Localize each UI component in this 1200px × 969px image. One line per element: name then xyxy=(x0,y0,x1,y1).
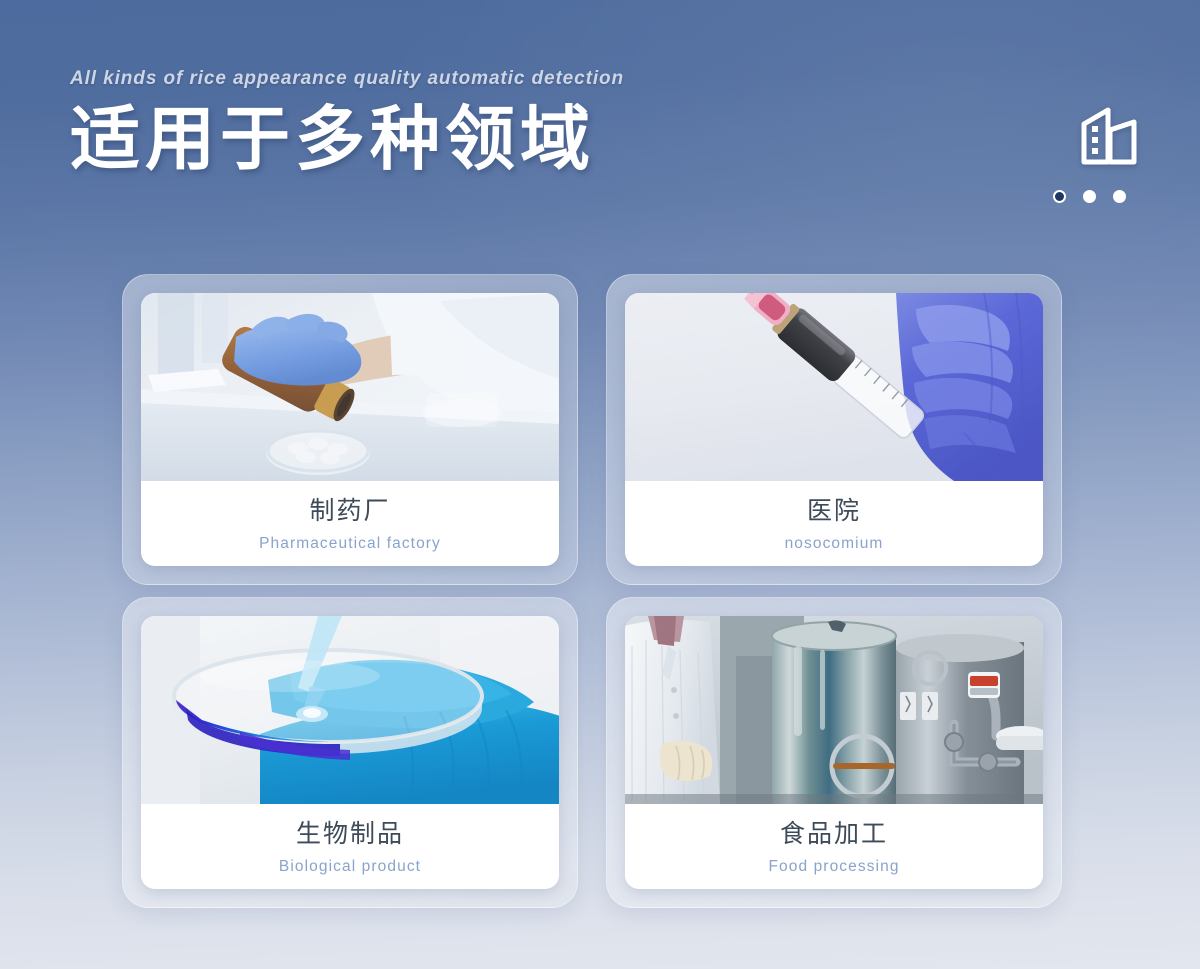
carousel-dot-3[interactable] xyxy=(1113,190,1126,203)
card-title: 食品加工 xyxy=(625,818,1043,849)
card-frame-food-processing[interactable]: 食品加工 Food processing xyxy=(606,597,1062,908)
card-pharmaceutical-factory[interactable]: 制药厂 Pharmaceutical factory xyxy=(141,293,559,566)
card-subtitle: Biological product xyxy=(141,858,559,876)
card-frame-pharmaceutical-factory[interactable]: 制药厂 Pharmaceutical factory xyxy=(122,274,578,585)
card-subtitle: nosocomium xyxy=(625,535,1043,553)
card-caption: 制药厂 Pharmaceutical factory xyxy=(141,481,559,566)
building-icon xyxy=(1078,104,1144,168)
card-caption: 医院 nosocomium xyxy=(625,481,1043,566)
header: All kinds of rice appearance quality aut… xyxy=(70,68,1130,178)
card-frame-hospital[interactable]: 医院 nosocomium xyxy=(606,274,1062,585)
card-title: 生物制品 xyxy=(141,818,559,849)
application-cards-grid: 制药厂 Pharmaceutical factory xyxy=(122,274,1062,908)
card-caption: 食品加工 Food processing xyxy=(625,804,1043,889)
page-title: 适用于多种领域 xyxy=(70,100,1130,178)
eyebrow-text: All kinds of rice appearance quality aut… xyxy=(70,68,1130,90)
card-title: 医院 xyxy=(625,495,1043,526)
hospital-syringe-photo xyxy=(625,293,1043,481)
carousel-dot-1[interactable] xyxy=(1053,190,1066,203)
card-frame-biological-product[interactable]: 生物制品 Biological product xyxy=(122,597,578,908)
card-caption: 生物制品 Biological product xyxy=(141,804,559,889)
food-processing-photo xyxy=(625,616,1043,804)
carousel-dot-2[interactable] xyxy=(1083,190,1096,203)
card-biological-product[interactable]: 生物制品 Biological product xyxy=(141,616,559,889)
card-title: 制药厂 xyxy=(141,495,559,526)
carousel-dots[interactable] xyxy=(1053,190,1126,203)
pharmaceutical-factory-photo xyxy=(141,293,559,481)
card-food-processing[interactable]: 食品加工 Food processing xyxy=(625,616,1043,889)
card-hospital[interactable]: 医院 nosocomium xyxy=(625,293,1043,566)
corner-cluster xyxy=(1053,104,1144,203)
card-subtitle: Pharmaceutical factory xyxy=(141,535,559,553)
card-subtitle: Food processing xyxy=(625,858,1043,876)
promo-banner: All kinds of rice appearance quality aut… xyxy=(0,0,1200,969)
biological-product-photo xyxy=(141,616,559,804)
